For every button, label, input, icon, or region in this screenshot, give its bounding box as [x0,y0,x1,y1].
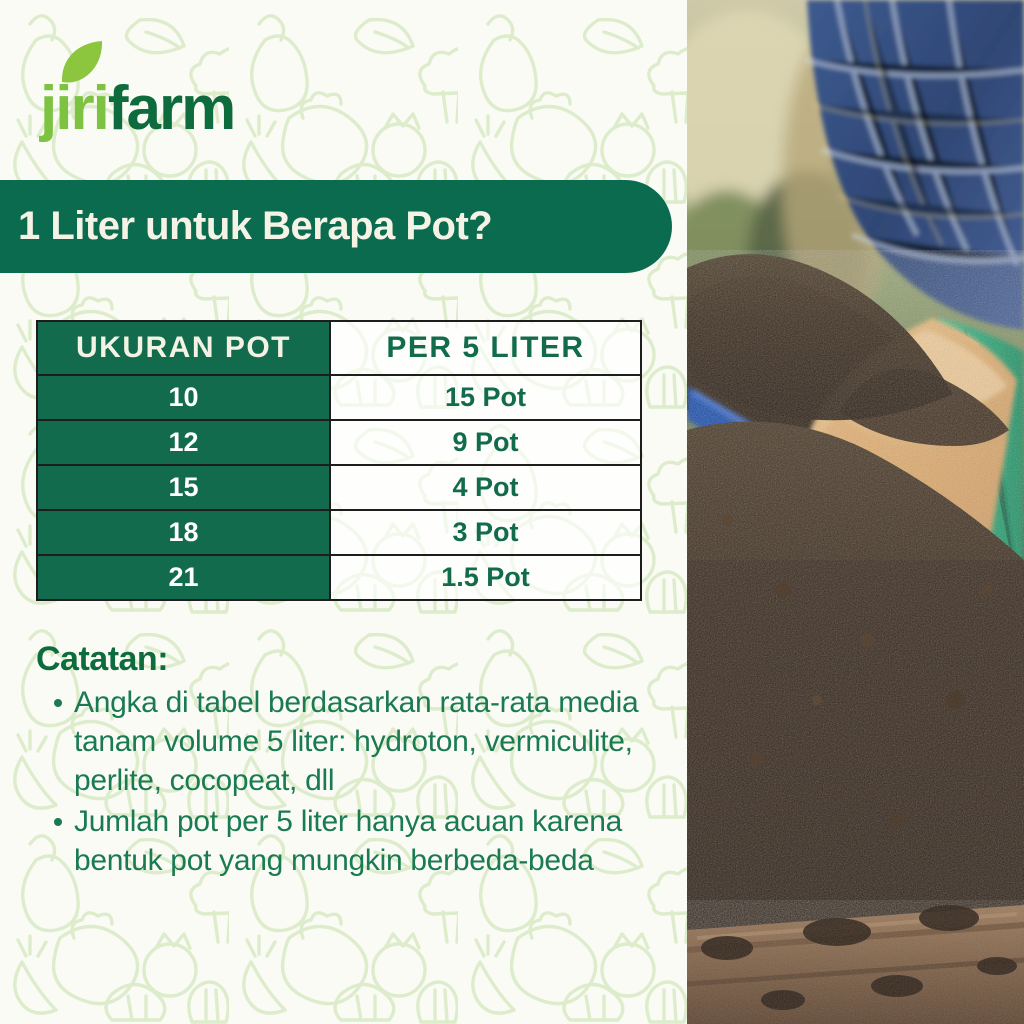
logo-farm-text: farm [108,74,234,143]
pot-size-value: 12 [168,427,198,457]
cell-pot-size: 21 [37,555,330,600]
cell-per-liter: 4 Pot [330,465,641,510]
per-liter-value: 1.5 Pot [441,562,530,592]
page-title: 1 Liter untuk Berapa Pot? [18,204,492,249]
table-header-row: UKURAN POT PER 5 LITER [37,321,641,375]
cell-per-liter: 9 Pot [330,420,641,465]
pot-size-table: UKURAN POT PER 5 LITER 10 15 Pot 12 9 Po… [36,320,642,601]
column-header-per-liter: PER 5 LITER [330,321,641,375]
note-text: Angka di tabel berdasarkan rata-rata med… [74,686,638,797]
gardening-photo [687,0,1024,1024]
note-text: Jumlah pot per 5 liter hanya acuan karen… [74,805,622,877]
note-item: Jumlah pot per 5 liter hanya acuan karen… [36,802,666,880]
column-header-pot-size: UKURAN POT [37,321,330,375]
note-item: Angka di tabel berdasarkan rata-rata med… [36,683,666,800]
cell-pot-size: 15 [37,465,330,510]
table-row: 21 1.5 Pot [37,555,641,600]
per-liter-value: 9 Pot [452,427,518,457]
cell-per-liter: 1.5 Pot [330,555,641,600]
bullet-icon [54,699,62,707]
content-panel: jirifarm 1 Liter untuk Berapa Pot? UKURA… [0,0,687,1024]
per-liter-value: 15 Pot [445,382,526,412]
title-banner: 1 Liter untuk Berapa Pot? [0,180,672,273]
infographic-canvas: jirifarm 1 Liter untuk Berapa Pot? UKURA… [0,0,1024,1024]
table-row: 18 3 Pot [37,510,641,555]
pot-size-value: 10 [168,382,198,412]
logo-wordmark: jirifarm [40,78,234,140]
per-liter-value: 4 Pot [452,472,518,502]
table-row: 12 9 Pot [37,420,641,465]
table-row: 15 4 Pot [37,465,641,510]
notes-title: Catatan: [36,640,666,679]
cell-per-liter: 3 Pot [330,510,641,555]
cell-pot-size: 18 [37,510,330,555]
cell-pot-size: 12 [37,420,330,465]
cell-per-liter: 15 Pot [330,375,641,420]
pot-size-value: 15 [168,472,198,502]
notes-list: Angka di tabel berdasarkan rata-rata med… [36,683,666,880]
table-row: 10 15 Pot [37,375,641,420]
per-liter-value: 3 Pot [452,517,518,547]
pot-size-value: 18 [168,517,198,547]
bullet-icon [54,818,62,826]
table-body: 10 15 Pot 12 9 Pot 15 4 Pot 18 3 Pot 21 [37,375,641,600]
brand-logo: jirifarm [40,38,340,133]
notes-section: Catatan: Angka di tabel berdasarkan rata… [36,640,666,882]
cell-pot-size: 10 [37,375,330,420]
pot-size-value: 21 [168,562,198,592]
table-header: UKURAN POT PER 5 LITER [37,321,641,375]
logo-jiri-text: jiri [40,74,108,143]
